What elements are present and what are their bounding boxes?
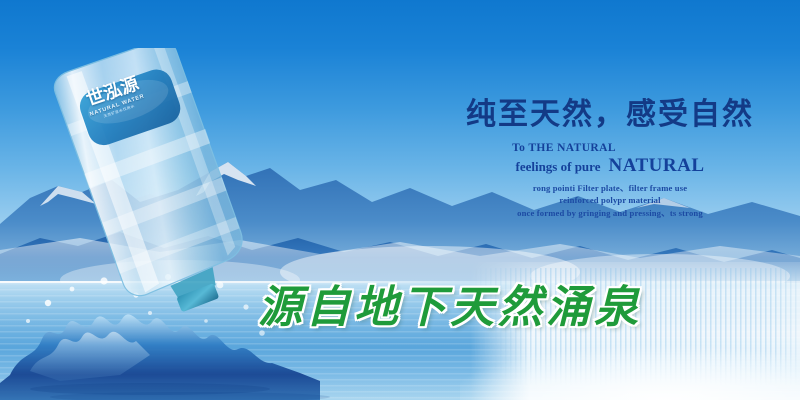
water-bottle [48,48,258,318]
fineprint-block: rong pointi Filter plate、filter frame us… [440,182,780,221]
tagline-line-2-prefix: feelings of pure [515,159,600,175]
waterfall-mist [460,330,800,400]
tagline-line-2-emphasis: NATURAL [608,155,704,177]
copy-block: 纯至天然，感受自然 To THE NATURAL feelings of pur… [440,98,780,220]
fineprint-line: once formed by gringing and pressing、ts … [440,207,780,220]
headline-chinese: 纯至天然，感受自然 [440,98,780,133]
green-slogan: 源自地下天然涌泉 [258,286,698,330]
tagline-line-2: feelings of pure NATURAL [440,155,780,177]
fineprint-line: rong pointi Filter plate、filter frame us… [440,182,780,195]
advertisement-banner: 世泓源 NATURAL WATER 天然矿泉水饮用水 纯至天然，感受自然 To … [0,0,800,400]
fineprint-line: reinforced polypr material [440,194,780,207]
tagline-group: To THE NATURAL feelings of pure NATURAL [440,142,780,177]
tagline-line-1: To THE NATURAL [440,142,780,154]
